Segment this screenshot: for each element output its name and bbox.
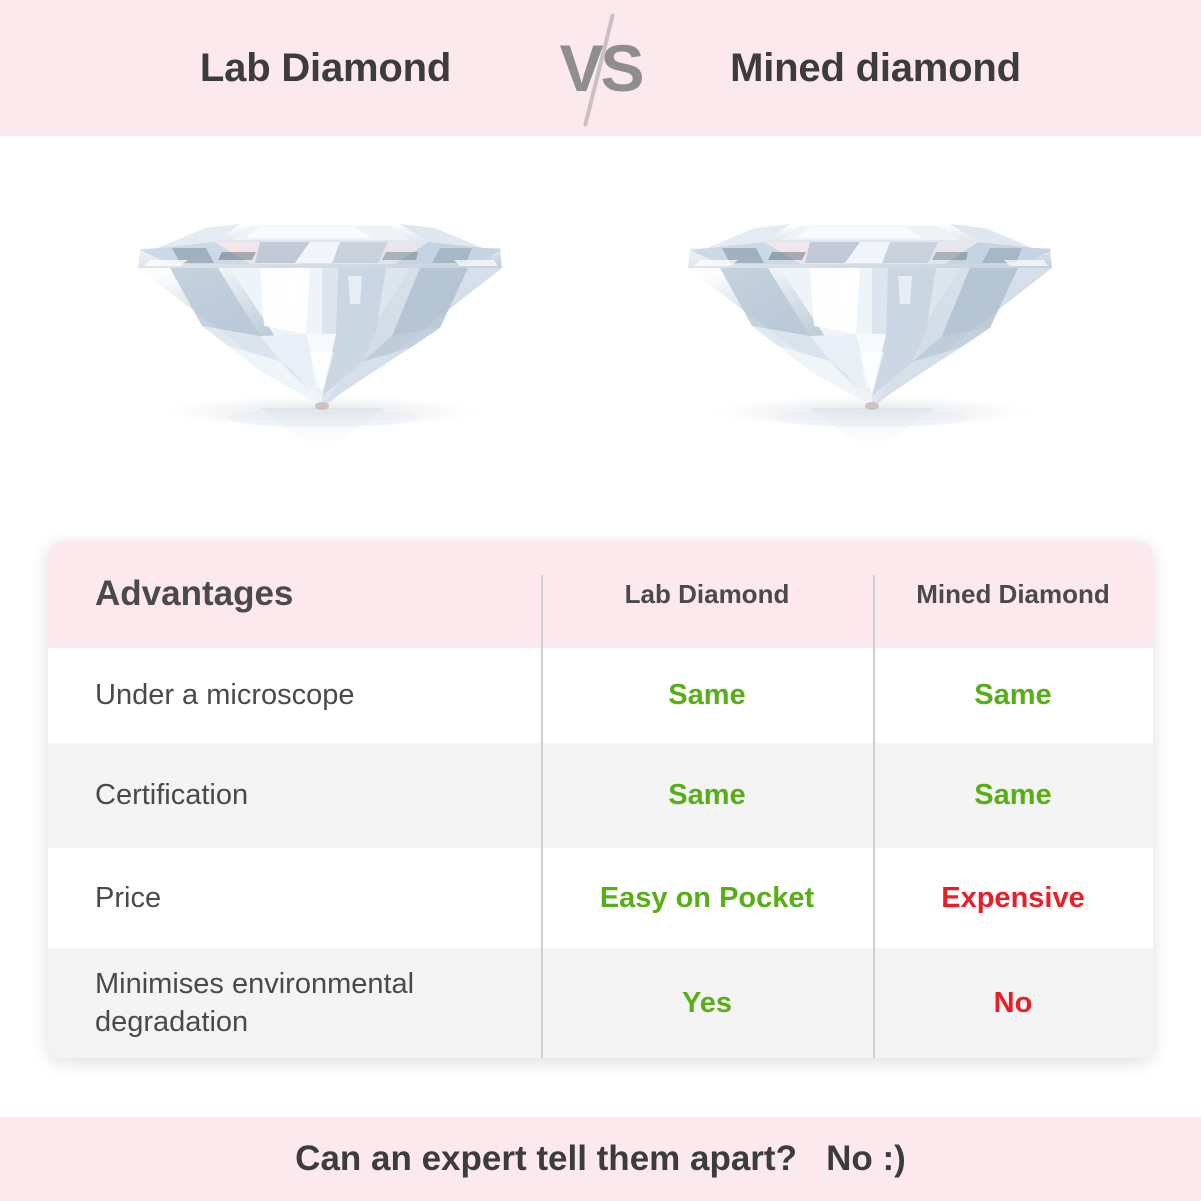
row-value-mined: No <box>873 987 1153 1020</box>
column-divider-1 <box>541 575 543 1058</box>
column-divider-2 <box>873 575 875 1058</box>
row-value-lab: Same <box>541 779 873 812</box>
lab-diamond-image <box>110 156 530 486</box>
row-label: Minimises environmental degradation <box>48 965 541 1042</box>
row-label: Under a microscope <box>48 676 541 714</box>
header-title-mined-diamond: Mined diamond <box>661 46 1091 91</box>
row-value-lab: Yes <box>541 987 873 1020</box>
mined-diamond-image <box>660 156 1080 486</box>
column-header-lab-diamond: Lab Diamond <box>541 579 873 610</box>
column-header-mined-diamond: Mined Diamond <box>873 579 1153 610</box>
footer-question: Can an expert tell them apart? No :) <box>295 1139 906 1179</box>
row-value-mined: Same <box>873 679 1153 712</box>
row-value-mined: Same <box>873 779 1153 812</box>
column-header-advantages: Advantages <box>48 571 541 617</box>
table-row: Under a microscope Same Same <box>48 648 1153 743</box>
row-value-lab: Easy on Pocket <box>541 882 873 915</box>
footer-band: Can an expert tell them apart? No :) <box>0 1117 1201 1201</box>
diamond-image-row <box>0 136 1201 536</box>
versus-badge: VS <box>541 8 661 128</box>
diamond-illustration-icon <box>110 156 530 486</box>
row-label: Price <box>48 879 541 917</box>
table-row: Certification Same Same <box>48 743 1153 848</box>
table-header-row: Advantages Lab Diamond Mined Diamond <box>48 541 1153 648</box>
diamond-illustration-icon <box>660 156 1080 486</box>
comparison-table: Advantages Lab Diamond Mined Diamond Und… <box>48 541 1153 1058</box>
table-row: Minimises environmental degradation Yes … <box>48 948 1153 1058</box>
row-value-mined: Expensive <box>873 882 1153 915</box>
header-title-lab-diamond: Lab Diamond <box>111 46 541 91</box>
row-value-lab: Same <box>541 679 873 712</box>
header-band: Lab Diamond VS Mined diamond <box>0 0 1201 136</box>
row-label: Certification <box>48 776 541 814</box>
table-row: Price Easy on Pocket Expensive <box>48 848 1153 948</box>
